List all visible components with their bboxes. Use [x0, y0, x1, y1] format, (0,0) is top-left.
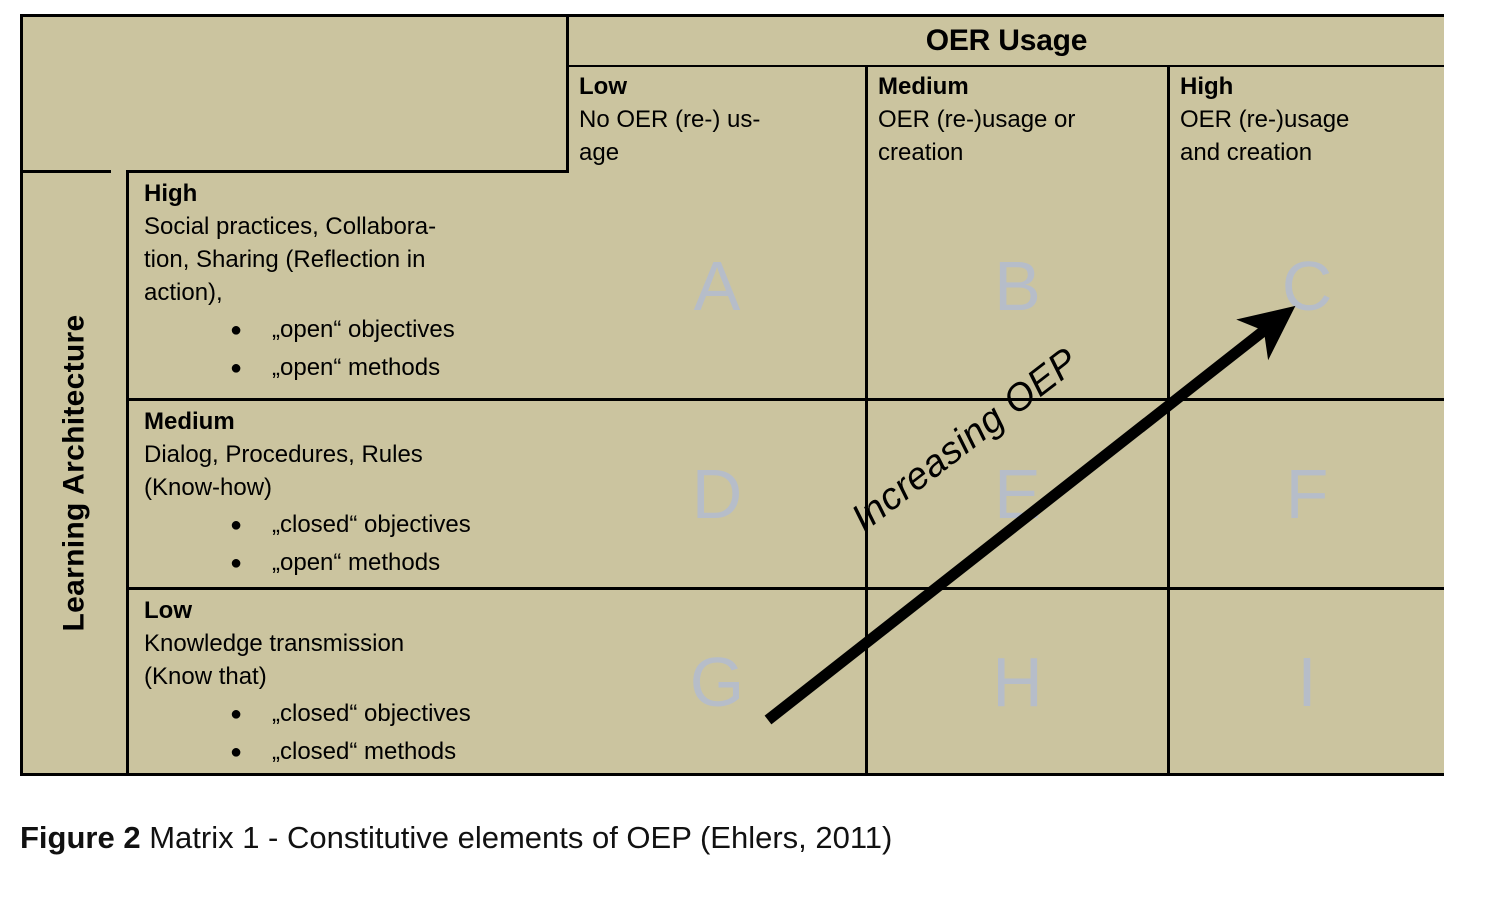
list-item-label: „closed“ methods [272, 738, 456, 765]
row-header-medium-bullets: ●„closed“ objectives ●„open“ methods [144, 506, 563, 582]
row-header-low: Low Knowledge transmission (Know that) ●… [132, 590, 569, 773]
row-header-low-bullets: ●„closed“ objectives ●„closed“ methods [144, 695, 563, 771]
list-item-label: „open“ methods [272, 549, 440, 576]
list-item: ●„closed“ objectives [144, 695, 563, 733]
bullet-icon: ● [230, 506, 242, 544]
column-header-medium-description: OER (re-)usage or creation [878, 103, 1159, 169]
column-header-high: High OER (re-)usage and creation [1170, 67, 1444, 173]
figure-caption: Figure 2 Matrix 1 - Constitutive element… [20, 820, 892, 856]
row-header-low-level: Low [144, 594, 563, 627]
list-item: ●„open“ objectives [144, 311, 563, 349]
bullet-icon: ● [230, 733, 242, 771]
matrix-cell-a: A [569, 173, 865, 398]
bullet-icon: ● [230, 544, 242, 582]
matrix-cell-c: C [1170, 173, 1444, 398]
row-axis-title-label: Learning Architecture [58, 315, 92, 632]
list-item-label: „closed“ objectives [272, 511, 471, 538]
column-header-high-description: OER (re-)usage and creation [1180, 103, 1436, 169]
list-item-label: „open“ methods [272, 354, 440, 381]
list-item: ●„open“ methods [144, 349, 563, 387]
column-header-medium-level: Medium [878, 70, 1159, 103]
row-axis-title: Learning Architecture [23, 173, 126, 773]
row-header-medium-description: Dialog, Procedures, Rules (Know-how) [144, 438, 563, 504]
row-header-high: High Social practices, Collabora- tion, … [132, 173, 569, 398]
row-header-medium: Medium Dialog, Procedures, Rules (Know-h… [132, 401, 569, 587]
bullet-icon: ● [230, 311, 242, 349]
row-header-high-bullets: ●„open“ objectives ●„open“ methods [144, 311, 563, 387]
row-header-low-description: Knowledge transmission (Know that) [144, 627, 563, 693]
list-item: ●„closed“ methods [144, 733, 563, 771]
bullet-icon: ● [230, 695, 242, 733]
column-header-medium: Medium OER (re-)usage or creation [868, 67, 1167, 173]
matrix-cell-f: F [1170, 401, 1444, 587]
column-header-low: Low No OER (re-) us- age [569, 67, 865, 173]
figure-2: OER Usage Low No OER (re-) us- age Mediu… [0, 0, 1488, 904]
corner-empty-cell [23, 17, 566, 170]
list-item-label: „closed“ objectives [272, 700, 471, 727]
matrix-cell-g: G [569, 590, 865, 773]
row-header-high-level: High [144, 177, 563, 210]
oep-matrix-table: OER Usage Low No OER (re-) us- age Mediu… [20, 14, 1444, 776]
row-header-medium-level: Medium [144, 405, 563, 438]
column-axis-title: OER Usage [569, 17, 1444, 65]
figure-caption-text: Matrix 1 - Constitutive elements of OEP … [141, 820, 893, 855]
figure-number: Figure 2 [20, 820, 141, 855]
column-header-low-description: No OER (re-) us- age [579, 103, 857, 169]
column-header-low-level: Low [579, 70, 857, 103]
matrix-cell-h: H [868, 590, 1167, 773]
matrix-cell-i: I [1170, 590, 1444, 773]
row-header-high-description: Social practices, Collabora- tion, Shari… [144, 210, 563, 309]
bullet-icon: ● [230, 349, 242, 387]
axis-label-column-rule [126, 170, 129, 776]
list-item-label: „open“ objectives [272, 316, 455, 343]
list-item: ●„closed“ objectives [144, 506, 563, 544]
matrix-cell-b: B [868, 173, 1167, 398]
column-header-high-level: High [1180, 70, 1436, 103]
list-item: ●„open“ methods [144, 544, 563, 582]
